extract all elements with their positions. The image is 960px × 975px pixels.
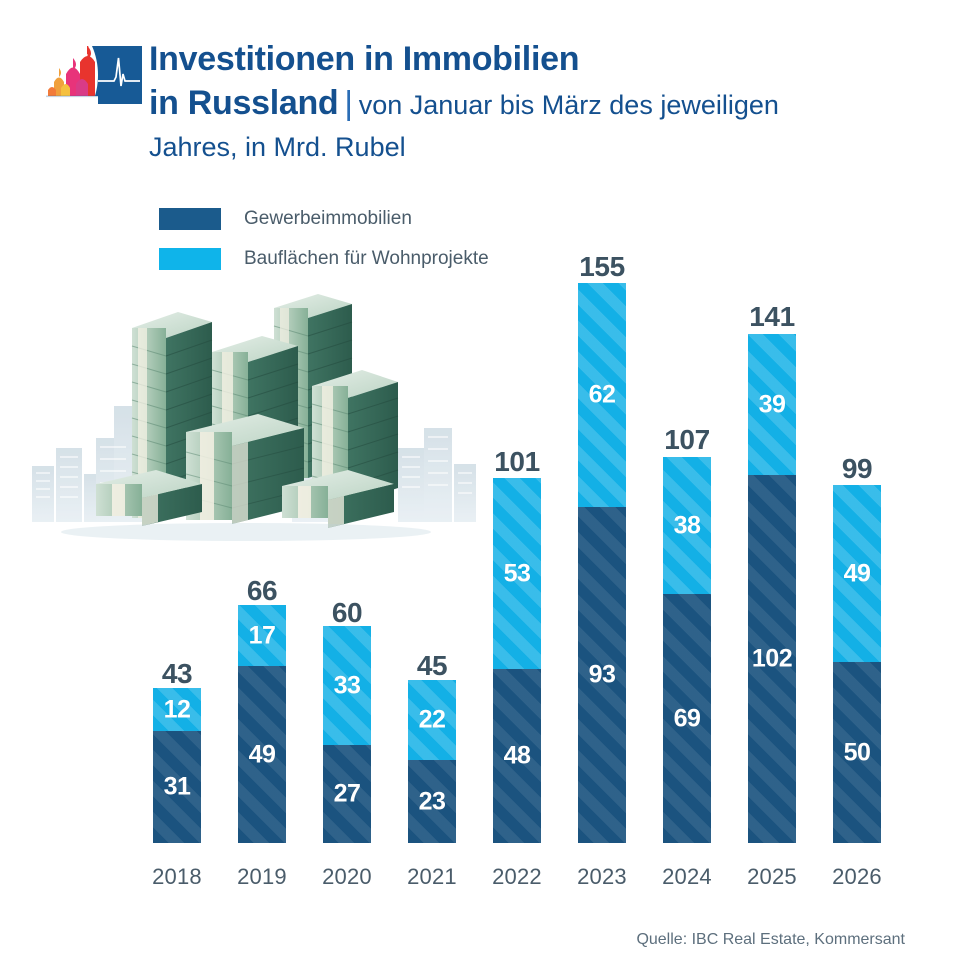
bar-total-2021: 45 (395, 650, 469, 682)
bar-total-2025: 141 (735, 301, 809, 333)
subtitle-part1: von Januar bis März des jeweiligen (359, 90, 779, 120)
bar-segment-residential-2018[interactable]: 12 (153, 688, 201, 731)
bar-year-2024: 2024 (650, 864, 724, 890)
bar-segment-commercial-2019[interactable]: 49 (238, 666, 286, 843)
bar-total-2018: 43 (140, 658, 214, 690)
bar-value-commercial-2026: 50 (833, 738, 881, 767)
bar-segment-residential-2024[interactable]: 38 (663, 457, 711, 594)
bar-value-commercial-2024: 69 (663, 704, 711, 733)
bar-column-2021[interactable]: 22 23 (408, 680, 456, 843)
bar-column-2019[interactable]: 17 49 (238, 605, 286, 843)
infographic-root: Investitionen in Immobilien in Russland|… (0, 0, 960, 975)
bar-value-residential-2021: 22 (408, 706, 456, 735)
bar-value-residential-2026: 49 (833, 559, 881, 588)
bar-segment-commercial-2026[interactable]: 50 (833, 662, 881, 843)
bar-column-2024[interactable]: 38 69 (663, 457, 711, 843)
bar-year-2026: 2026 (820, 864, 894, 890)
bar-column-2026[interactable]: 49 50 (833, 485, 881, 843)
bar-year-2020: 2020 (310, 864, 384, 890)
bar-segment-residential-2026[interactable]: 49 (833, 485, 881, 662)
bar-segment-commercial-2024[interactable]: 69 (663, 594, 711, 843)
bar-value-residential-2019: 17 (238, 621, 286, 650)
bar-segment-residential-2025[interactable]: 39 (748, 334, 796, 475)
bar-column-2018[interactable]: 12 31 (153, 688, 201, 843)
bar-value-commercial-2025: 102 (748, 645, 796, 674)
bar-column-2020[interactable]: 33 27 (323, 626, 371, 843)
bar-segment-commercial-2021[interactable]: 23 (408, 760, 456, 843)
bar-total-2024: 107 (650, 424, 724, 456)
title-line-2: in Russland|von Januar bis März des jewe… (149, 81, 939, 127)
subtitle-part2: Jahres, in Mrd. Rubel (149, 127, 939, 167)
bar-year-2022: 2022 (480, 864, 554, 890)
bar-year-2019: 2019 (225, 864, 299, 890)
bar-value-commercial-2018: 31 (153, 773, 201, 802)
bar-total-2019: 66 (225, 575, 299, 607)
bar-value-commercial-2019: 49 (238, 740, 286, 769)
bar-segment-residential-2023[interactable]: 62 (578, 283, 626, 507)
bar-value-commercial-2022: 48 (493, 742, 541, 771)
bar-value-residential-2018: 12 (153, 695, 201, 724)
title-block: Investitionen in Immobilien in Russland|… (149, 38, 939, 167)
bar-year-2021: 2021 (395, 864, 469, 890)
page-title-part2: in Russland (149, 84, 338, 122)
st-basils-cathedral-pulse-logo (46, 46, 142, 104)
bar-value-residential-2022: 53 (493, 559, 541, 588)
bar-segment-residential-2021[interactable]: 22 (408, 680, 456, 760)
bar-column-2022[interactable]: 53 48 (493, 478, 541, 843)
title-separator: | (338, 84, 358, 121)
bar-total-2023: 155 (565, 251, 639, 283)
bar-year-2018: 2018 (140, 864, 214, 890)
title-line-1: Investitionen in Immobilien (149, 38, 939, 81)
legend-label-commercial: Gewerbeimmobilien (244, 208, 412, 230)
legend-swatch-commercial (159, 208, 221, 230)
bar-value-residential-2023: 62 (578, 381, 626, 410)
bar-column-2023[interactable]: 62 93 (578, 283, 626, 843)
bar-year-2025: 2025 (735, 864, 809, 890)
bar-segment-residential-2020[interactable]: 33 (323, 626, 371, 745)
bar-segment-commercial-2023[interactable]: 93 (578, 507, 626, 843)
source-note: Quelle: IBC Real Estate, Kommersant (636, 931, 905, 949)
bar-value-commercial-2023: 93 (578, 661, 626, 690)
bar-segment-commercial-2018[interactable]: 31 (153, 731, 201, 843)
bar-segment-commercial-2025[interactable]: 102 (748, 475, 796, 843)
bar-segment-commercial-2020[interactable]: 27 (323, 745, 371, 843)
bar-total-2022: 101 (480, 446, 554, 478)
bar-segment-commercial-2022[interactable]: 48 (493, 669, 541, 843)
bar-value-residential-2024: 38 (663, 511, 711, 540)
bar-year-2023: 2023 (565, 864, 639, 890)
bar-value-residential-2020: 33 (323, 671, 371, 700)
bar-value-residential-2025: 39 (748, 390, 796, 419)
bar-segment-residential-2022[interactable]: 53 (493, 478, 541, 669)
bar-segment-residential-2019[interactable]: 17 (238, 605, 286, 666)
bar-value-commercial-2020: 27 (323, 780, 371, 809)
bar-total-2026: 99 (820, 453, 894, 485)
bar-column-2025[interactable]: 39 102 (748, 334, 796, 843)
bar-total-2020: 60 (310, 597, 384, 629)
bar-value-commercial-2021: 23 (408, 787, 456, 816)
page-title-part1: Investitionen in Immobilien (149, 40, 579, 78)
bar-chart: 43 12 31 2018 66 17 49 201 (140, 230, 930, 890)
